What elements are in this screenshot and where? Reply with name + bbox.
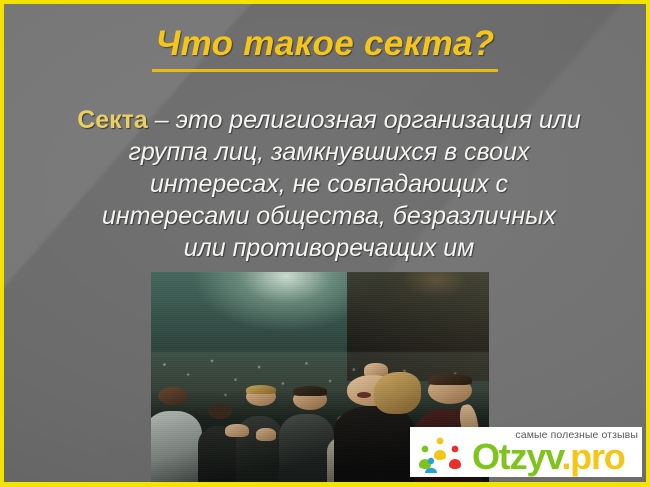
body-lead-term: Секта [77,106,148,134]
body-line-3: интересах, не совпадающих с [22,168,636,200]
body-line-1-rest: – это религиозная организация или [148,106,581,134]
body-line-2: группа лиц, замкнувшихся в своих [22,136,636,168]
watermark: самые полезные отзывы Otzyv.pro [410,427,642,477]
body-line-4: интересами общества, безразличных [22,200,636,232]
presentation-slide: Что такое секта? Секта – это религиозная… [0,0,650,487]
people-group-icon [416,435,468,473]
body-line-5: или противоречащих им [22,232,636,264]
slide-title-text: Что такое секта? [152,22,499,72]
body-line-1: Секта – это религиозная организация или [22,104,636,136]
slide-title: Что такое секта? [4,22,646,72]
watermark-logo-suffix: .pro [561,436,624,477]
watermark-logo: Otzyv.pro [472,438,625,476]
slide-body: Секта – это религиозная организация или … [22,104,636,264]
watermark-logo-name: Otzyv [472,436,561,477]
